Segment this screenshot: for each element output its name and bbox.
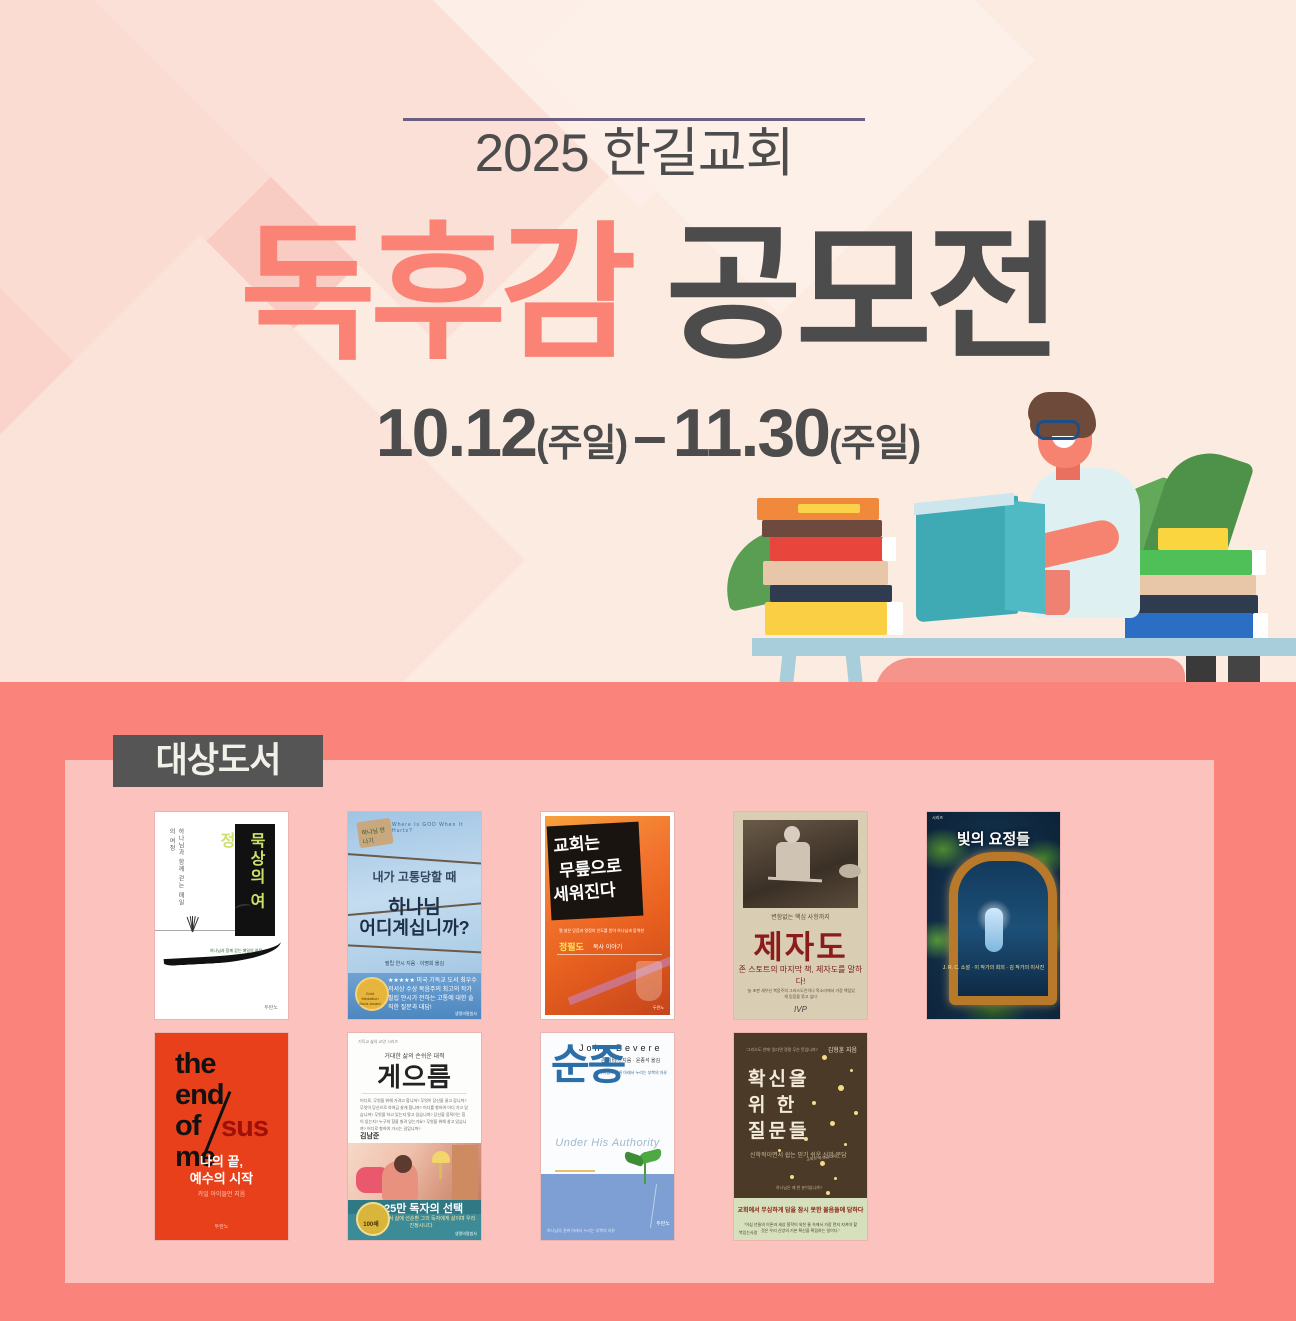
book-9-band-main: 교회에서 무심하게 답을 잠시 못한 물음들에 답하다 — [734, 1205, 867, 1214]
date-dash: – — [627, 402, 672, 469]
star-dot — [834, 1177, 837, 1180]
section-badge-label: 대상도서 — [156, 741, 281, 781]
book-8-publisher: 두란노 — [656, 1220, 670, 1227]
book-stack-item — [765, 602, 887, 635]
church-year-heading: 2025 한길교회 — [403, 118, 865, 189]
book-8-band-text: 하나님의 권위 아래서 누리는 부복의 자유 — [547, 1228, 667, 1234]
book-6-title-overlay: sus — [221, 1111, 268, 1144]
book-6-title-ko-2: 예수의 시작 — [155, 1168, 288, 1187]
book-3-author-role: 목사 이야기 — [593, 942, 622, 951]
book-stack-item — [762, 520, 882, 537]
book-2-title-top: 내가 고통당할 때 — [348, 868, 481, 885]
book-6-title-en-1: the — [175, 1049, 224, 1080]
book-stack-item — [770, 585, 892, 602]
book-9-question-top: '그리스도 안에' 있다면 정말 무슨 뜻입니까? — [746, 1047, 818, 1053]
lamp-stand — [439, 1163, 442, 1179]
book-cover-3[interactable]: 교회는 무릎으로 세워진다 열 살은 믿음과 열정의 인도를 받아 하나님과 동… — [541, 812, 674, 1019]
open-book-right — [1005, 500, 1045, 614]
book-8-subtitle: 하나님의 권위 아래서 누리는 부복의 자유 — [599, 1069, 671, 1076]
table-top — [752, 638, 1296, 656]
book-7-band-main: 25만 독자의 선택 — [384, 1200, 463, 1216]
star-dot — [812, 1101, 816, 1105]
star-dot — [820, 1161, 825, 1166]
book-1-subtitle: 하나님과 함께 걷는 매일의 여정 — [167, 828, 185, 908]
book-1-publisher: 두란노 — [264, 1004, 278, 1011]
book-grid: 하나님과 함께 걷는 매일의 여정 묵상의 여정 하나님과 함께 걷는 매일의 … — [155, 812, 1155, 1240]
star-dot — [854, 1111, 858, 1115]
figure-head — [394, 1155, 412, 1173]
book-9-title-1: 확신을 — [748, 1067, 809, 1093]
book-2-title-2: 어디계십니까? — [348, 914, 481, 940]
book-7-title: 게으름 — [348, 1057, 481, 1094]
star-dot — [850, 1069, 853, 1072]
book-9-band-sub: "이십 년들의 이론과 세상 철학이 외친 줄 속에서 가장 먼저 지켜야 할 … — [744, 1222, 857, 1234]
poster-root: 2025 한길교회 독후감 공모전 10.12(주일)–11.30(주일) — [0, 0, 1296, 1321]
book-1-title: 묵상의 여정 — [240, 832, 270, 928]
book-9-title-2: 위 한 — [748, 1093, 809, 1119]
star-dot — [790, 1175, 794, 1179]
book-cover-1[interactable]: 하나님과 함께 걷는 매일의 여정 묵상의 여정 하나님과 함께 걷는 매일의 … — [155, 812, 288, 1019]
book-3-author: 정필도 — [559, 940, 584, 953]
book-3-publisher: 두란노 — [653, 1005, 664, 1011]
barbed-wire — [348, 944, 481, 954]
book-stack-item — [1132, 550, 1252, 575]
book-9-author: 김형훈 지음 — [828, 1047, 857, 1056]
person-legs — [875, 658, 1185, 682]
book-cover-9[interactable]: '그리스도 안에' 있다면 정말 무슨 뜻입니까? 김형훈 지음 확신을 위 한… — [734, 1033, 867, 1240]
headline-highlight: 독후감 — [240, 212, 630, 377]
photo-person-body — [776, 842, 810, 880]
divider — [362, 1093, 467, 1094]
church-year-text: 2025 한길교회 — [403, 121, 865, 189]
book-5-title: 빛의 요정들 — [927, 828, 1060, 849]
book-6-title-en-2: end — [175, 1080, 224, 1111]
book-cover-2[interactable]: 하나님 만나기 Where Is GOD When It Hurts? 내가 고… — [348, 812, 481, 1019]
star-dot — [838, 1085, 844, 1091]
book-4-title: 제자도 — [734, 922, 867, 968]
book-6-author: 카일 아이들먼 지음 — [155, 1191, 288, 1200]
book-9-title: 확신을 위 한 질문들 — [748, 1067, 809, 1145]
book-7-author: 김남준 — [360, 1131, 379, 1141]
photo-rock — [839, 864, 861, 878]
book-9-title-3: 질문들 — [748, 1119, 809, 1145]
hero-section: 2025 한길교회 독후감 공모전 10.12(주일)–11.30(주일) — [0, 0, 1296, 682]
book-stack-item — [1138, 595, 1258, 615]
book-stack-item — [763, 561, 888, 585]
headline-rest: 공모전 — [630, 212, 1056, 377]
table-leg — [778, 656, 796, 682]
star-dot — [822, 1055, 827, 1060]
star-dot — [830, 1121, 835, 1126]
book-stack-item — [798, 504, 860, 513]
shelf-graphic — [452, 1145, 478, 1203]
book-4-publisher: IVP — [734, 1005, 867, 1014]
book-cover-6[interactable]: the end of me sus 나의 끝, 예수의 시작 카일 아이들먼 지… — [155, 1033, 288, 1240]
book-8-title: 순종 — [551, 1047, 624, 1083]
photo-person-head — [784, 826, 800, 843]
tree-icon — [185, 912, 201, 932]
book-5-series-tag: 시리즈 — [932, 815, 943, 821]
book-2-tag: 하나님 만나기 — [361, 824, 391, 846]
book-4-body: '늘 초판 세우신 복음주의 그리스도인이나 목소리에서 가장 책임있게 믿음을… — [746, 988, 856, 1000]
book-pages — [1252, 550, 1266, 575]
book-stack-item — [1130, 575, 1256, 595]
barbed-wire — [348, 853, 481, 865]
chair-leg — [1228, 656, 1260, 682]
book-2-publisher: 생명의말씀사 — [455, 1011, 477, 1017]
status-badge: 대상도서 — [113, 735, 323, 787]
book-6-publisher: 두란노 — [155, 1223, 288, 1230]
reader-illustration — [700, 380, 1296, 682]
glasses-icon — [1036, 420, 1080, 440]
book-cover-5[interactable]: 시리즈 빛의 요정들 J. R. C. 소설 · 이 작가의 회의 · 김 작가… — [927, 812, 1060, 1019]
page-title: 독후감 공모전 — [0, 219, 1296, 371]
chair-leg — [1186, 656, 1216, 682]
book-pages — [882, 537, 896, 561]
book-2-award-label: Gold Medallion Book Award — [357, 991, 383, 1006]
flask-graphic — [636, 961, 662, 1001]
book-4-overline: 변함없는 핵심 사항까지 — [734, 912, 867, 921]
book-cover-4[interactable]: 변함없는 핵심 사항까지 제자도 존 스토트의 마지막 책, 제자도를 말하다!… — [734, 812, 867, 1019]
book-9-publisher: 복있는사람 — [739, 1230, 757, 1236]
book-9-question-bottom: 하나님은 왜 한 분이십니까? — [776, 1185, 822, 1191]
book-2-author: 필립 얀시 지음 · 이명희 옮김 — [348, 960, 481, 967]
book-stack-item — [1125, 613, 1253, 640]
book-cover-7[interactable]: 기독교 삶의 교양 시리즈 거대한 삶의 손쉬운 대적 게으름 어디로, 무엇을… — [348, 1033, 481, 1240]
book-1-blurb: 하나님과 함께 걷는 매일의 여정 — [191, 948, 281, 954]
book-4-subtitle: 존 스토트의 마지막 책, 제자도를 말하다! — [734, 964, 867, 988]
book-2-band-text: ★★★★★ 미국 기독교 도서 최우수 저서상 수상 복음주의 최고의 작가 필… — [388, 977, 478, 1013]
book-row: 하나님과 함께 걷는 매일의 여정 묵상의 여정 하나님과 함께 걷는 매일의 … — [155, 812, 1155, 1019]
book-row: the end of me sus 나의 끝, 예수의 시작 카일 아이들먼 지… — [155, 1033, 1155, 1240]
book-pages — [887, 602, 903, 635]
star-dot — [844, 1143, 847, 1146]
seed-marks — [555, 1170, 595, 1172]
book-7-publisher: 생명의말씀사 — [455, 1231, 477, 1237]
table-leg — [846, 656, 864, 682]
lamp-icon — [432, 1151, 450, 1163]
book-cover-8[interactable]: John Bevere 존 비비어 지음 · 윤종석 옮김 순종 하나님의 권위… — [541, 1033, 674, 1240]
date-start: 10.12 — [376, 395, 536, 471]
book-stack-item — [770, 537, 890, 561]
open-book-left — [916, 496, 1018, 623]
book-8-subtitle-en: Under His Authority — [541, 1137, 674, 1149]
date-start-note: (주일) — [536, 423, 627, 465]
book-stack-item — [1158, 528, 1228, 550]
star-dot — [826, 1191, 830, 1195]
book-7-body: 어디로, 무엇을 위해 가려고 합니까? 무엇이 당신을 끌고 갑니까? 무엇이… — [360, 1097, 468, 1132]
book-5-author: J. R. C. 소설 · 이 작가의 회의 · 김 작가의 이사진 — [927, 964, 1060, 971]
book-pages — [1253, 613, 1268, 640]
book-3-subtitle: 열 살은 믿음과 열정의 인도를 받아 하나님과 동역한 — [559, 928, 664, 934]
book-7-series: 기독교 삶의 교양 시리즈 — [358, 1039, 398, 1045]
divider — [557, 954, 662, 955]
book-2-english-title: Where Is GOD When It Hurts? — [392, 822, 481, 834]
book-7-seal-label: 100쇄 — [358, 1219, 384, 1228]
fairy-figure — [985, 908, 1003, 952]
